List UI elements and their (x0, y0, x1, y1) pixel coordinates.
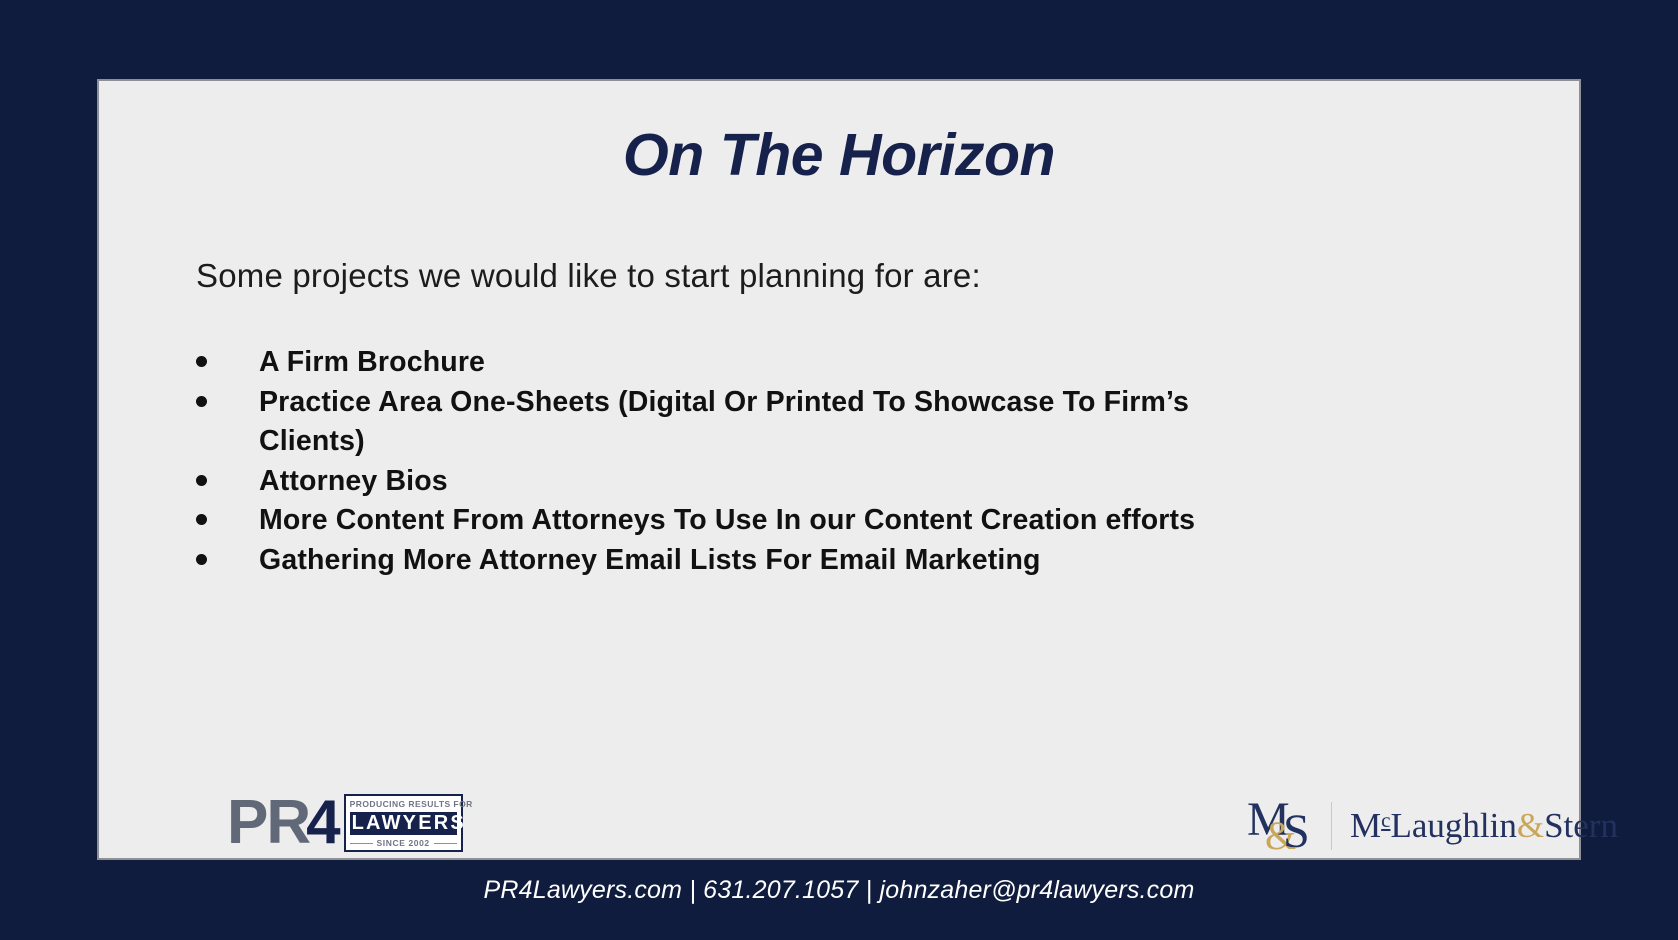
mclaughlin-stern-logo: M & S McLaughlin&Stern (1247, 793, 1618, 859)
list-item-label: Practice Area One-Sheets (Digital Or Pri… (259, 386, 1189, 458)
footer-contact: PR4Lawyers.com | 631.207.1057 | johnzahe… (0, 876, 1678, 905)
bullet-dot-icon (196, 514, 207, 525)
pr4-since-row: SINCE 2002 (350, 838, 457, 848)
pr4lawyers-logo: PR4 PRODUCING RESULTS FOR LAWYERS SINCE … (227, 793, 463, 853)
list-item: Attorney Bios (196, 462, 1196, 502)
pr4-tagline: PRODUCING RESULTS FOR (350, 799, 457, 810)
bullet-dot-icon (196, 356, 207, 367)
bullet-dot-icon (196, 475, 207, 486)
logo-divider (1331, 802, 1332, 850)
list-item: A Firm Brochure (196, 343, 1196, 383)
slide-content-card: On The Horizon Some projects we would li… (97, 79, 1581, 860)
ms-monogram-s: S (1283, 808, 1310, 856)
ms-wordmark-stern: Stern (1544, 806, 1618, 845)
rule-right (434, 843, 457, 844)
list-item-label: More Content From Attorneys To Use In ou… (259, 504, 1195, 536)
pr4-wordmark: PR4 (227, 794, 339, 852)
list-item: More Content From Attorneys To Use In ou… (196, 501, 1196, 541)
intro-paragraph: Some projects we would like to start pla… (196, 257, 981, 295)
ms-wordmark: McLaughlin&Stern (1350, 806, 1618, 846)
list-item-label: Attorney Bios (259, 465, 448, 497)
bullet-dot-icon (196, 554, 207, 565)
project-list: A Firm Brochure Practice Area One-Sheets… (196, 343, 1196, 580)
list-item-label: A Firm Brochure (259, 346, 485, 378)
ms-monogram: M & S (1247, 796, 1319, 856)
pr4-lawyers-text: LAWYERS (350, 812, 457, 835)
slide-canvas: On The Horizon Some projects we would li… (0, 0, 1678, 940)
rule-left (350, 843, 373, 844)
list-item: Practice Area One-Sheets (Digital Or Pri… (196, 383, 1196, 462)
ms-wordmark-ampersand: & (1517, 806, 1544, 845)
pr4-four-text: 4 (306, 794, 338, 852)
bullet-dot-icon (196, 396, 207, 407)
pr4-since-text: SINCE 2002 (377, 838, 430, 848)
list-item: Gathering More Attorney Email Lists For … (196, 541, 1196, 581)
ms-wordmark-laughlin: Laughlin (1390, 806, 1516, 845)
ms-wordmark-mc: M (1350, 806, 1381, 845)
page-title: On The Horizon (99, 121, 1579, 189)
pr4-badge: PRODUCING RESULTS FOR LAWYERS SINCE 2002 (344, 794, 463, 852)
pr4-pr-text: PR (227, 794, 309, 852)
list-item-label: Gathering More Attorney Email Lists For … (259, 544, 1041, 576)
